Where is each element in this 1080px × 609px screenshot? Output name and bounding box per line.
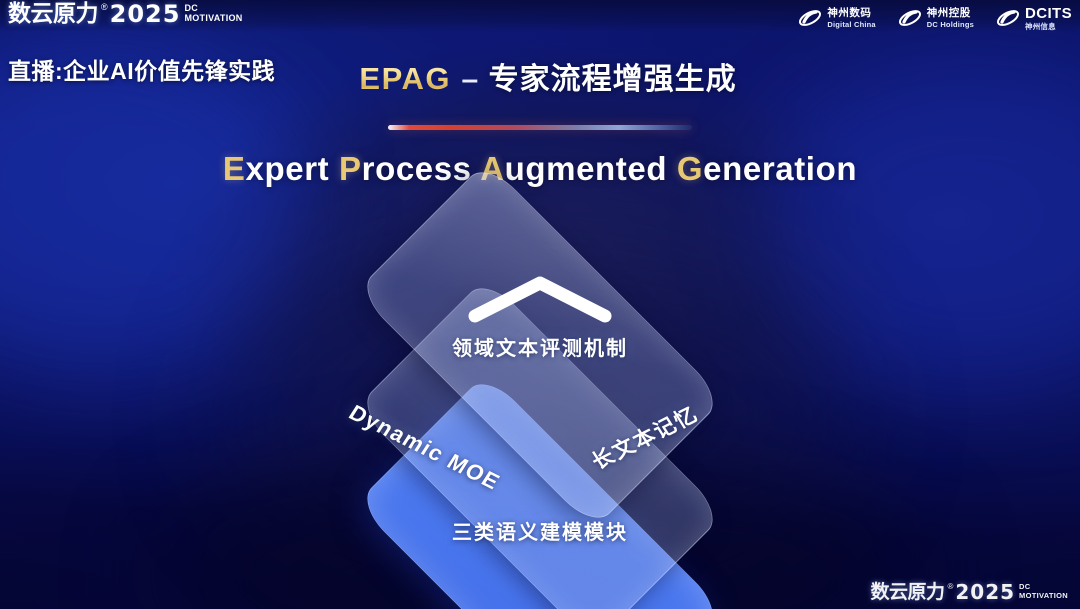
brand-registered-mark: ® [101, 2, 108, 13]
swirl-logo-icon [798, 7, 822, 29]
subtitle: Expert Process Augmented Generation [0, 150, 1080, 188]
partner-name-en-big: DCITS [1025, 6, 1072, 21]
partner-logo-dc-holdings: 神州控股 DC Holdings [898, 7, 974, 29]
subtitle-part: ugmented [505, 150, 677, 187]
headline-acronym: EPAG [359, 61, 451, 96]
watermark-logo: 数云原力 ® 2025 DC MOTIVATION [870, 582, 1068, 603]
watermark-registered-mark: ® [947, 582, 953, 591]
partner-logo-dcits: DCITS 神州信息 [996, 6, 1072, 31]
watermark-motivation: DC MOTIVATION [1019, 583, 1068, 600]
brand-motivation: DC MOTIVATION [184, 3, 242, 23]
subtitle-part: xpert [246, 150, 339, 187]
layer-label-top: 领域文本评测机制 [452, 332, 628, 361]
partner-logo-text: DCITS 神州信息 [1025, 6, 1072, 31]
swirl-logo-icon [898, 7, 922, 29]
slide-canvas: 数云原力 ® 2025 DC MOTIVATION 直播:企业AI价值先锋实践 … [0, 0, 1080, 609]
watermark-motivation-line2: MOTIVATION [1019, 592, 1068, 601]
layer-stack-diagram: 领域文本评测机制 Dynamic MOE 长文本记忆 三类语义建模模块 [280, 232, 800, 580]
partner-logo-text: 神州数码 Digital China [827, 8, 875, 28]
headline-dash: – [461, 63, 478, 96]
partner-logo-text: 神州控股 DC Holdings [927, 8, 974, 28]
subtitle-part: rocess [362, 150, 481, 187]
chevron-up-icon [465, 272, 615, 324]
brand-name-cn: 数云原力 [8, 2, 98, 27]
page-title: EPAG – 专家流程增强生成 [0, 54, 1080, 98]
layer-label-bottom: 三类语义建模模块 [452, 516, 628, 545]
watermark-name-cn: 数云原力 [870, 582, 944, 603]
subtitle-part: P [339, 150, 362, 187]
subtitle-part: G [677, 150, 703, 187]
partner-name-en: DC Holdings [927, 21, 974, 29]
subtitle-part: E [223, 150, 246, 187]
brand-year: 2025 [110, 2, 181, 27]
partner-logo-bar: 神州数码 Digital China 神州控股 DC Holdings DCIT… [798, 6, 1072, 31]
partner-name-cn: 神州数码 [827, 8, 875, 19]
swirl-logo-icon [996, 7, 1020, 29]
ambient-glow-right [760, 60, 1080, 390]
brand-motivation-line1: DC [184, 3, 242, 13]
partner-name-cn: 神州信息 [1025, 23, 1072, 31]
gradient-divider [388, 125, 692, 130]
watermark-year: 2025 [955, 582, 1015, 603]
partner-name-cn: 神州控股 [927, 8, 974, 19]
subtitle-part: eneration [703, 150, 857, 187]
partner-logo-digital-china: 神州数码 Digital China [798, 7, 875, 29]
partner-name-en: Digital China [827, 21, 875, 29]
brand-logo: 数云原力 ® 2025 DC MOTIVATION [8, 2, 243, 27]
brand-motivation-line2: MOTIVATION [184, 13, 242, 23]
headline-chinese: 专家流程增强生成 [489, 63, 737, 96]
